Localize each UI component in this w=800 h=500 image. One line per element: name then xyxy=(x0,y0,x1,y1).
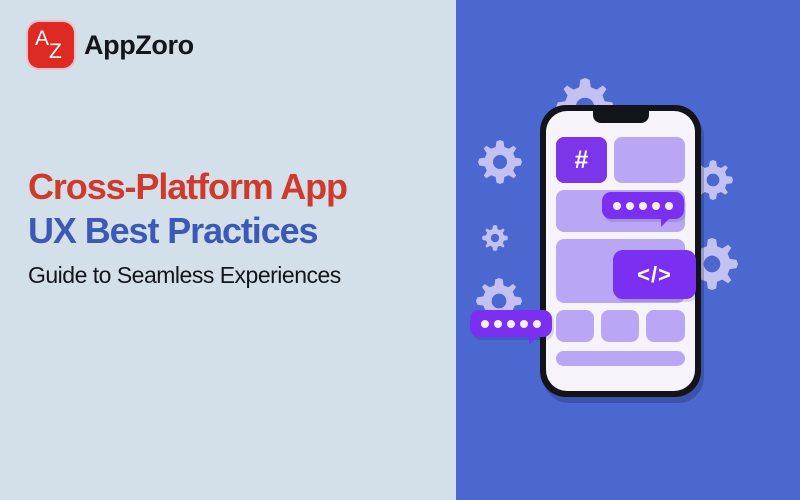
monogram-letter-a: A xyxy=(35,28,49,49)
bubble-dot xyxy=(639,202,647,210)
bubble-dot xyxy=(494,320,502,328)
tile-hash: # xyxy=(556,137,607,183)
subtitle: Guide to Seamless Experiences xyxy=(28,262,448,289)
bubble-dot xyxy=(533,320,541,328)
tile-bottom-bar xyxy=(556,351,685,366)
gear-mid-left-icon xyxy=(482,225,508,251)
illustration-panel: # </> xyxy=(456,0,800,500)
chat-bubble-top xyxy=(602,192,684,219)
bubble-dot xyxy=(665,202,673,210)
bubble-tail xyxy=(661,218,670,227)
bubble-dot xyxy=(626,202,634,210)
gear-upper-left-icon xyxy=(478,140,522,184)
brand-name: AppZoro xyxy=(84,30,194,61)
headline-block: Cross-Platform App UX Best Practices Gui… xyxy=(28,166,448,289)
bubble-dot xyxy=(481,320,489,328)
code-badge: </> xyxy=(613,250,696,299)
left-content-panel: A Z AppZoro Cross-Platform App UX Best P… xyxy=(0,0,456,500)
tile-small-3 xyxy=(646,310,685,342)
chat-bubble-bottom xyxy=(470,310,552,337)
headline-line-2: UX Best Practices xyxy=(28,210,448,252)
phone-notch xyxy=(593,111,649,123)
headline-line-1: Cross-Platform App xyxy=(28,166,448,208)
bubble-dot xyxy=(520,320,528,328)
brand-logo[interactable]: A Z AppZoro xyxy=(28,22,194,68)
bubble-dot xyxy=(507,320,515,328)
blog-banner: A Z AppZoro Cross-Platform App UX Best P… xyxy=(0,0,800,500)
bubble-tail xyxy=(529,336,538,345)
tile-small-1 xyxy=(556,310,594,342)
tile-top-right xyxy=(614,137,685,183)
bubble-dot xyxy=(652,202,660,210)
bubble-dot xyxy=(613,202,621,210)
tile-small-2 xyxy=(601,310,639,342)
az-monogram-icon: A Z xyxy=(28,22,74,68)
monogram-letter-z: Z xyxy=(49,41,62,62)
